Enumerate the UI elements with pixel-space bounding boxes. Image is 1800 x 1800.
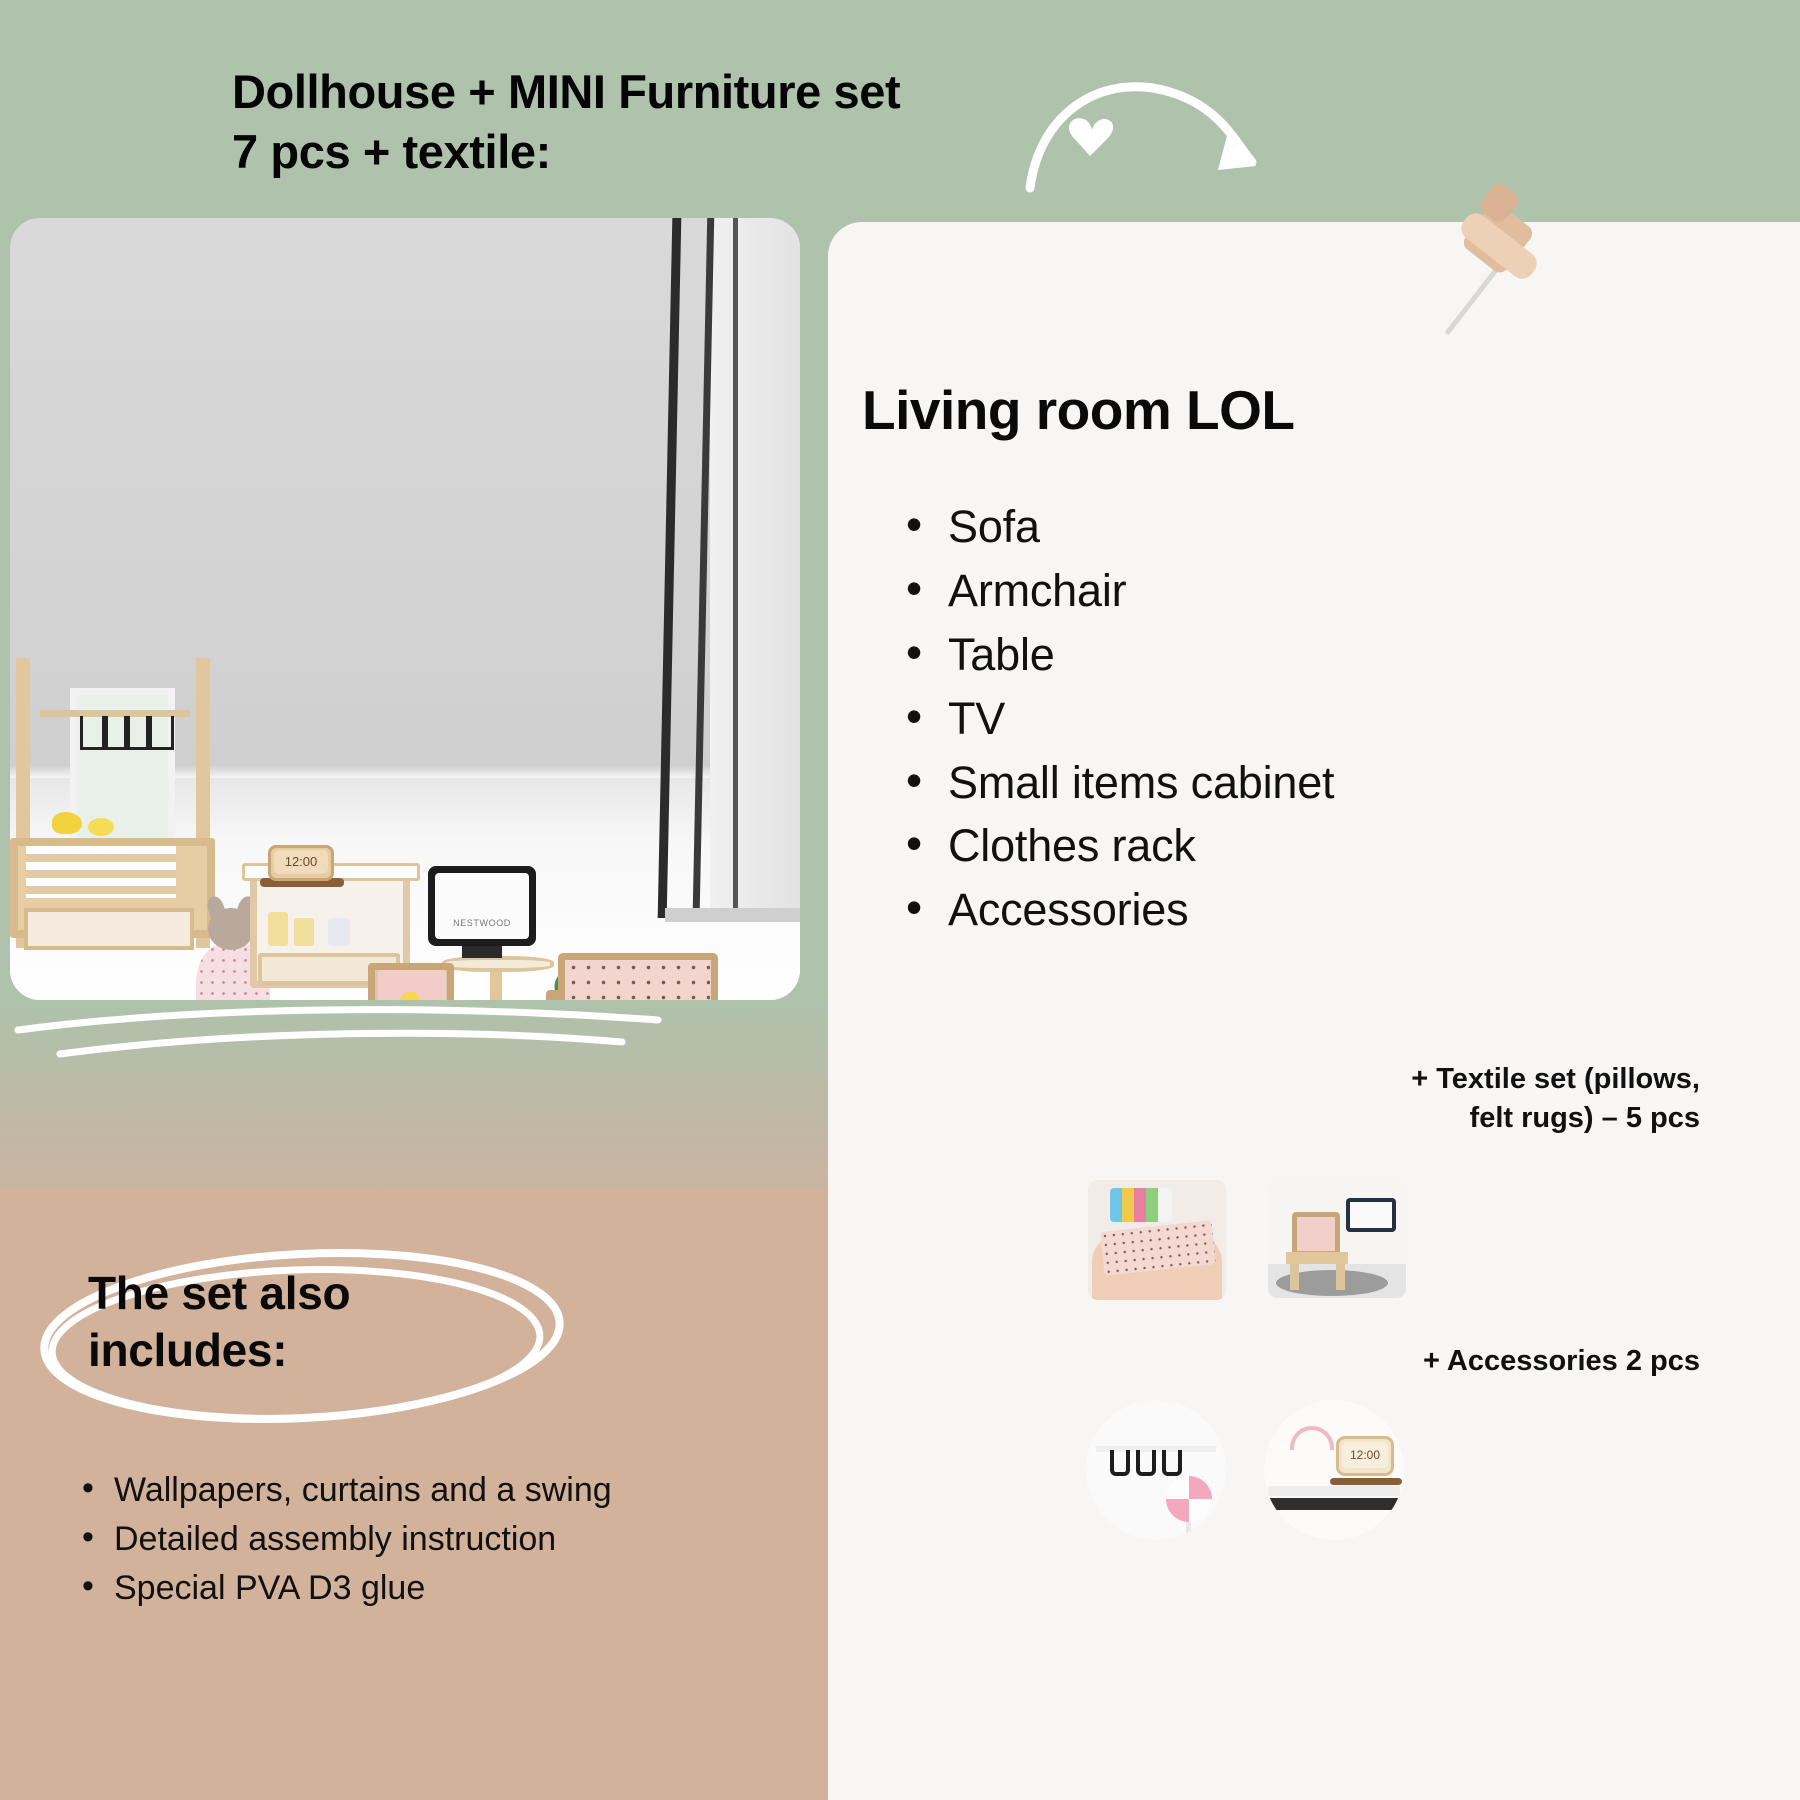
list-item: Armchair: [900, 559, 1460, 623]
photo-window-panel: [710, 218, 800, 918]
page-title: Dollhouse + MINI Furniture set 7 pcs + t…: [232, 62, 1092, 182]
thumbnail-chair-seat: [1286, 1252, 1348, 1264]
accessory-thumbnail-2: 12:00: [1264, 1400, 1404, 1540]
thumbnail-chair-leg: [1336, 1262, 1345, 1290]
thumbnail-shelf-edge: [1264, 1498, 1404, 1510]
list-item: Sofa: [900, 495, 1460, 559]
list-item: Wallpapers, curtains and a swing: [78, 1466, 778, 1515]
textile-set-note: + Textile set (pillows, felt rugs) – 5 p…: [1080, 1060, 1700, 1137]
photo-tv-screen: [435, 873, 529, 939]
thumbnail-tv-screen: [1350, 1202, 1392, 1228]
photo-candle: [294, 918, 314, 946]
photo-rack-slats: [26, 846, 176, 898]
photo-duck-toy: [52, 812, 82, 834]
accessories-note: + Accessories 2 pcs: [1080, 1345, 1700, 1378]
thumbnail-chair-leg: [1290, 1262, 1299, 1290]
thumbnail-clock-display: 12:00: [1342, 1442, 1388, 1468]
curved-arrow-icon: [1020, 70, 1300, 200]
set-title-line-1: The set also: [88, 1267, 350, 1319]
thumbnail-background: [1086, 1400, 1226, 1540]
photo-cup: [328, 918, 350, 946]
list-item: Accessories: [900, 878, 1460, 942]
panel-title: Living room LOL: [862, 378, 1562, 442]
list-item: Table: [900, 623, 1460, 687]
list-item: Clothes rack: [900, 814, 1460, 878]
list-item: Special PVA D3 glue: [78, 1564, 778, 1613]
list-item: TV: [900, 687, 1460, 751]
photo-doll-head: [208, 908, 254, 950]
thumbnail-lollipop: [1166, 1476, 1212, 1522]
photo-window-sill: [665, 908, 800, 922]
set-includes-list: Wallpapers, curtains and a swing Detaile…: [78, 1466, 778, 1613]
photo-rack-drawer: [24, 908, 194, 950]
textile-note-line-2: felt rugs) – 5 pcs: [1470, 1102, 1700, 1134]
set-title-line-2: includes:: [88, 1324, 287, 1376]
photo-window-frame-bar: [733, 218, 738, 918]
photo-table: [442, 956, 554, 972]
hanger-icon: [1110, 1450, 1130, 1476]
photo-duck-toy: [88, 818, 114, 836]
textile-thumbnail-1: [1088, 1180, 1226, 1300]
textile-thumbnail-2: [1268, 1178, 1406, 1298]
accessory-thumbnail-1: [1086, 1400, 1226, 1540]
product-photo: 12:00 NESTWOOD: [10, 218, 800, 1000]
thumbnail-clock-base: [1330, 1478, 1402, 1485]
thumbnail-toys: [1110, 1188, 1172, 1222]
page-title-line-1: Dollhouse + MINI Furniture set: [232, 65, 900, 118]
page-title-line-2: 7 pcs + textile:: [232, 122, 1092, 182]
hanger-icon: [1162, 1450, 1182, 1476]
list-item: Detailed assembly instruction: [78, 1515, 778, 1564]
pushpin-icon: [1400, 180, 1570, 340]
photo-tv-logo: NESTWOOD: [438, 918, 526, 928]
hanger-icon: [1136, 1450, 1156, 1476]
textile-note-line-1: + Textile set (pillows,: [1411, 1063, 1700, 1095]
thumbnail-armchair: [1292, 1212, 1340, 1256]
set-section-title: The set also includes:: [88, 1265, 528, 1379]
living-room-panel: [828, 222, 1800, 1800]
swoosh-lines-decoration: [10, 990, 710, 1070]
photo-candle: [268, 912, 288, 946]
feature-list: Sofa Armchair Table TV Small items cabin…: [900, 495, 1460, 942]
photo-tv-stand: [462, 946, 502, 958]
list-item: Small items cabinet: [900, 751, 1460, 815]
photo-hanger: [146, 716, 174, 750]
photo-clock-display: 12:00: [274, 850, 328, 874]
thumbnail-shelf: [1268, 1486, 1400, 1496]
